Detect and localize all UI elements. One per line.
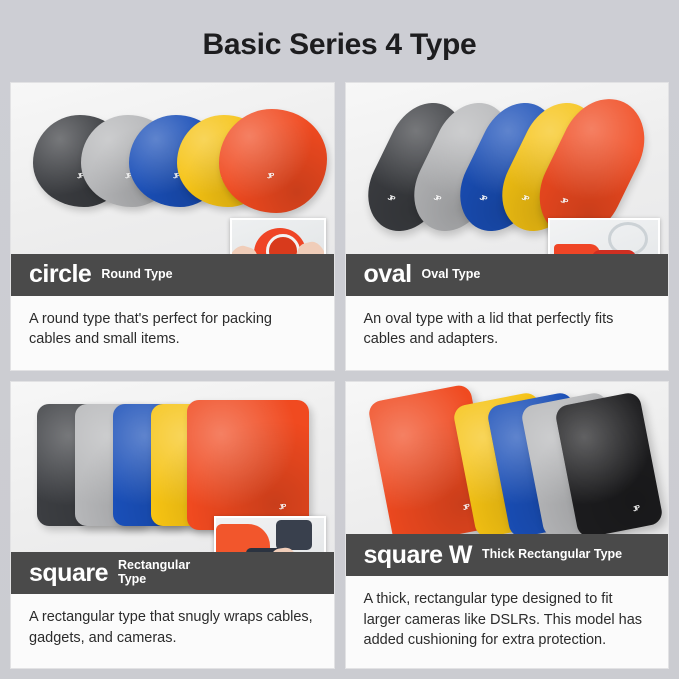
product-item-red: JP <box>187 400 309 530</box>
product-card-circle[interactable]: JP JP JP JP JP circle Round Type A round… <box>10 82 335 371</box>
brand-logo: JP <box>267 173 274 181</box>
brand-logo: JP <box>279 503 286 511</box>
label-bar-circle: circle Round Type <box>11 254 334 296</box>
inset-photo-circle <box>230 218 326 254</box>
product-photo-square: JP JP JP JP JP <box>11 382 334 553</box>
infographic-page: Basic Series 4 Type JP JP JP JP JP circl… <box>0 0 679 679</box>
product-name-circle: circle <box>29 262 91 287</box>
product-description-circle: A round type that's perfect for packing … <box>11 296 334 370</box>
product-type-square: Rectangular Type <box>118 559 210 587</box>
product-card-oval[interactable]: JP JP JP JP JP oval Oval Type An oval <box>345 82 670 371</box>
label-bar-oval: oval Oval Type <box>346 254 669 296</box>
product-description-oval: An oval type with a lid that perfectly f… <box>346 296 669 370</box>
product-card-square[interactable]: JP JP JP JP JP square Rectangular Type <box>10 381 335 670</box>
product-type-square-w: Thick Rectangular Type <box>482 548 622 562</box>
product-item-red: JP <box>219 109 327 213</box>
product-name-square: square <box>29 561 108 586</box>
product-description-square-w: A thick, rectangular type designed to fi… <box>346 576 669 668</box>
product-description-square: A rectangular type that snugly wraps cab… <box>11 594 334 668</box>
inset-photo-square <box>214 516 326 552</box>
product-type-oval: Oval Type <box>422 268 481 282</box>
product-photo-oval: JP JP JP JP JP <box>346 83 669 254</box>
product-name-oval: oval <box>364 262 412 287</box>
inset-photo-oval <box>548 218 660 254</box>
product-photo-square-w: JP JP JP JP JP <box>346 382 669 535</box>
label-bar-square: square Rectangular Type <box>11 552 334 594</box>
product-card-grid: JP JP JP JP JP circle Round Type A round… <box>0 82 679 679</box>
brand-logo: JP <box>631 504 639 513</box>
product-photo-circle: JP JP JP JP JP <box>11 83 334 254</box>
brand-logo: JP <box>461 503 469 512</box>
product-name-square-w: square W <box>364 543 473 568</box>
product-type-circle: Round Type <box>101 268 172 282</box>
product-card-square-w[interactable]: JP JP JP JP JP square W Thick Rectangula… <box>345 381 670 670</box>
label-bar-square-w: square W Thick Rectangular Type <box>346 534 669 576</box>
page-title: Basic Series 4 Type <box>0 0 679 82</box>
